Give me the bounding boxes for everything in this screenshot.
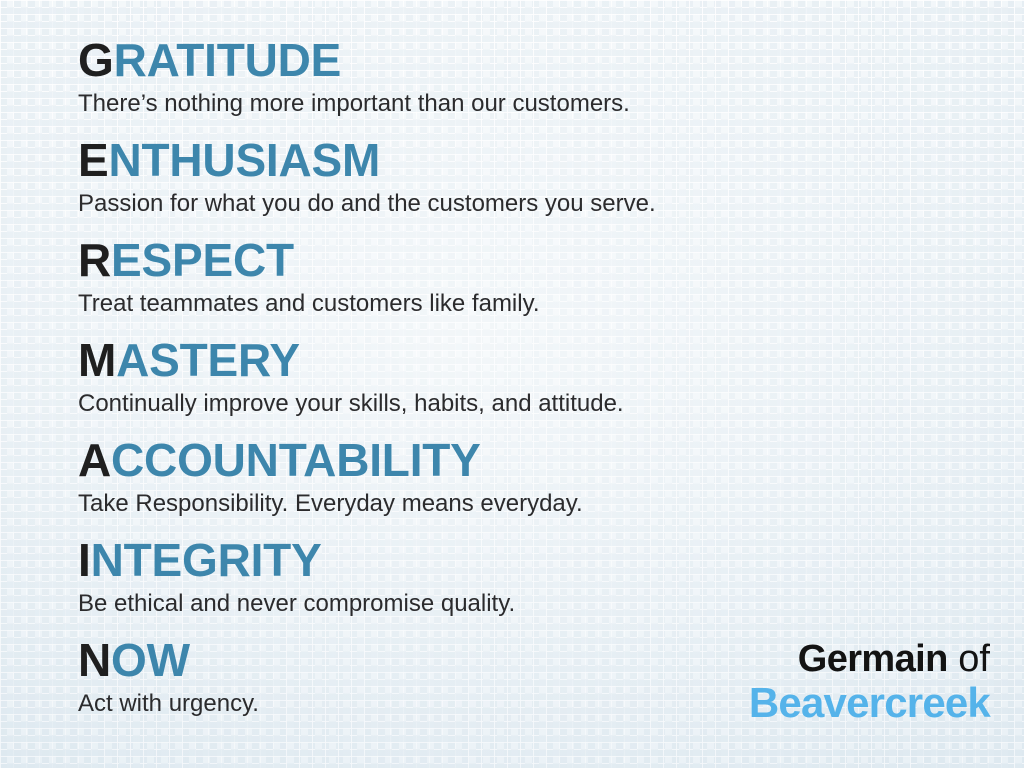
- value-description-respect: Treat teammates and customers like famil…: [78, 286, 978, 319]
- value-heading-enthusiasm: ENTHUSIASM: [78, 134, 978, 186]
- core-values-list: GRATITUDE There’s nothing more important…: [78, 34, 978, 734]
- value-initial-letter: I: [78, 534, 91, 586]
- value-heading-remainder: NTEGRITY: [91, 534, 322, 586]
- value-block-enthusiasm: ENTHUSIASM Passion for what you do and t…: [78, 134, 978, 234]
- value-description-gratitude: There’s nothing more important than our …: [78, 86, 978, 119]
- dealership-logo: Germain of Beavercreek: [749, 638, 990, 726]
- value-description-integrity: Be ethical and never compromise quality.: [78, 586, 978, 619]
- value-heading-accountability: ACCOUNTABILITY: [78, 434, 978, 486]
- value-heading-mastery: MASTERY: [78, 334, 978, 386]
- core-values-poster: GRATITUDE There’s nothing more important…: [0, 0, 1024, 768]
- value-heading-remainder: OW: [111, 634, 190, 686]
- value-initial-letter: A: [78, 434, 111, 486]
- value-initial-letter: E: [78, 134, 108, 186]
- value-block-gratitude: GRATITUDE There’s nothing more important…: [78, 34, 978, 134]
- value-heading-gratitude: GRATITUDE: [78, 34, 978, 86]
- brand-connector: of: [958, 638, 990, 680]
- value-initial-letter: G: [78, 34, 114, 86]
- value-initial-letter: R: [78, 234, 111, 286]
- value-heading-remainder: RATITUDE: [114, 34, 342, 86]
- value-description-mastery: Continually improve your skills, habits,…: [78, 386, 978, 419]
- value-heading-remainder: ESPECT: [111, 234, 294, 286]
- brand-logo-line-one: Germain of: [749, 638, 990, 680]
- value-description-accountability: Take Responsibility. Everyday means ever…: [78, 486, 978, 519]
- brand-name: Germain: [798, 638, 948, 680]
- value-heading-remainder: NTHUSIASM: [108, 134, 380, 186]
- value-heading-remainder: ASTERY: [116, 334, 300, 386]
- value-block-mastery: MASTERY Continually improve your skills,…: [78, 334, 978, 434]
- value-block-respect: RESPECT Treat teammates and customers li…: [78, 234, 978, 334]
- value-initial-letter: N: [78, 634, 111, 686]
- value-block-accountability: ACCOUNTABILITY Take Responsibility. Ever…: [78, 434, 978, 534]
- value-block-integrity: INTEGRITY Be ethical and never compromis…: [78, 534, 978, 634]
- value-heading-integrity: INTEGRITY: [78, 534, 978, 586]
- value-description-enthusiasm: Passion for what you do and the customer…: [78, 186, 978, 219]
- brand-location: Beavercreek: [749, 680, 990, 726]
- value-initial-letter: M: [78, 334, 116, 386]
- value-heading-remainder: CCOUNTABILITY: [111, 434, 481, 486]
- value-heading-respect: RESPECT: [78, 234, 978, 286]
